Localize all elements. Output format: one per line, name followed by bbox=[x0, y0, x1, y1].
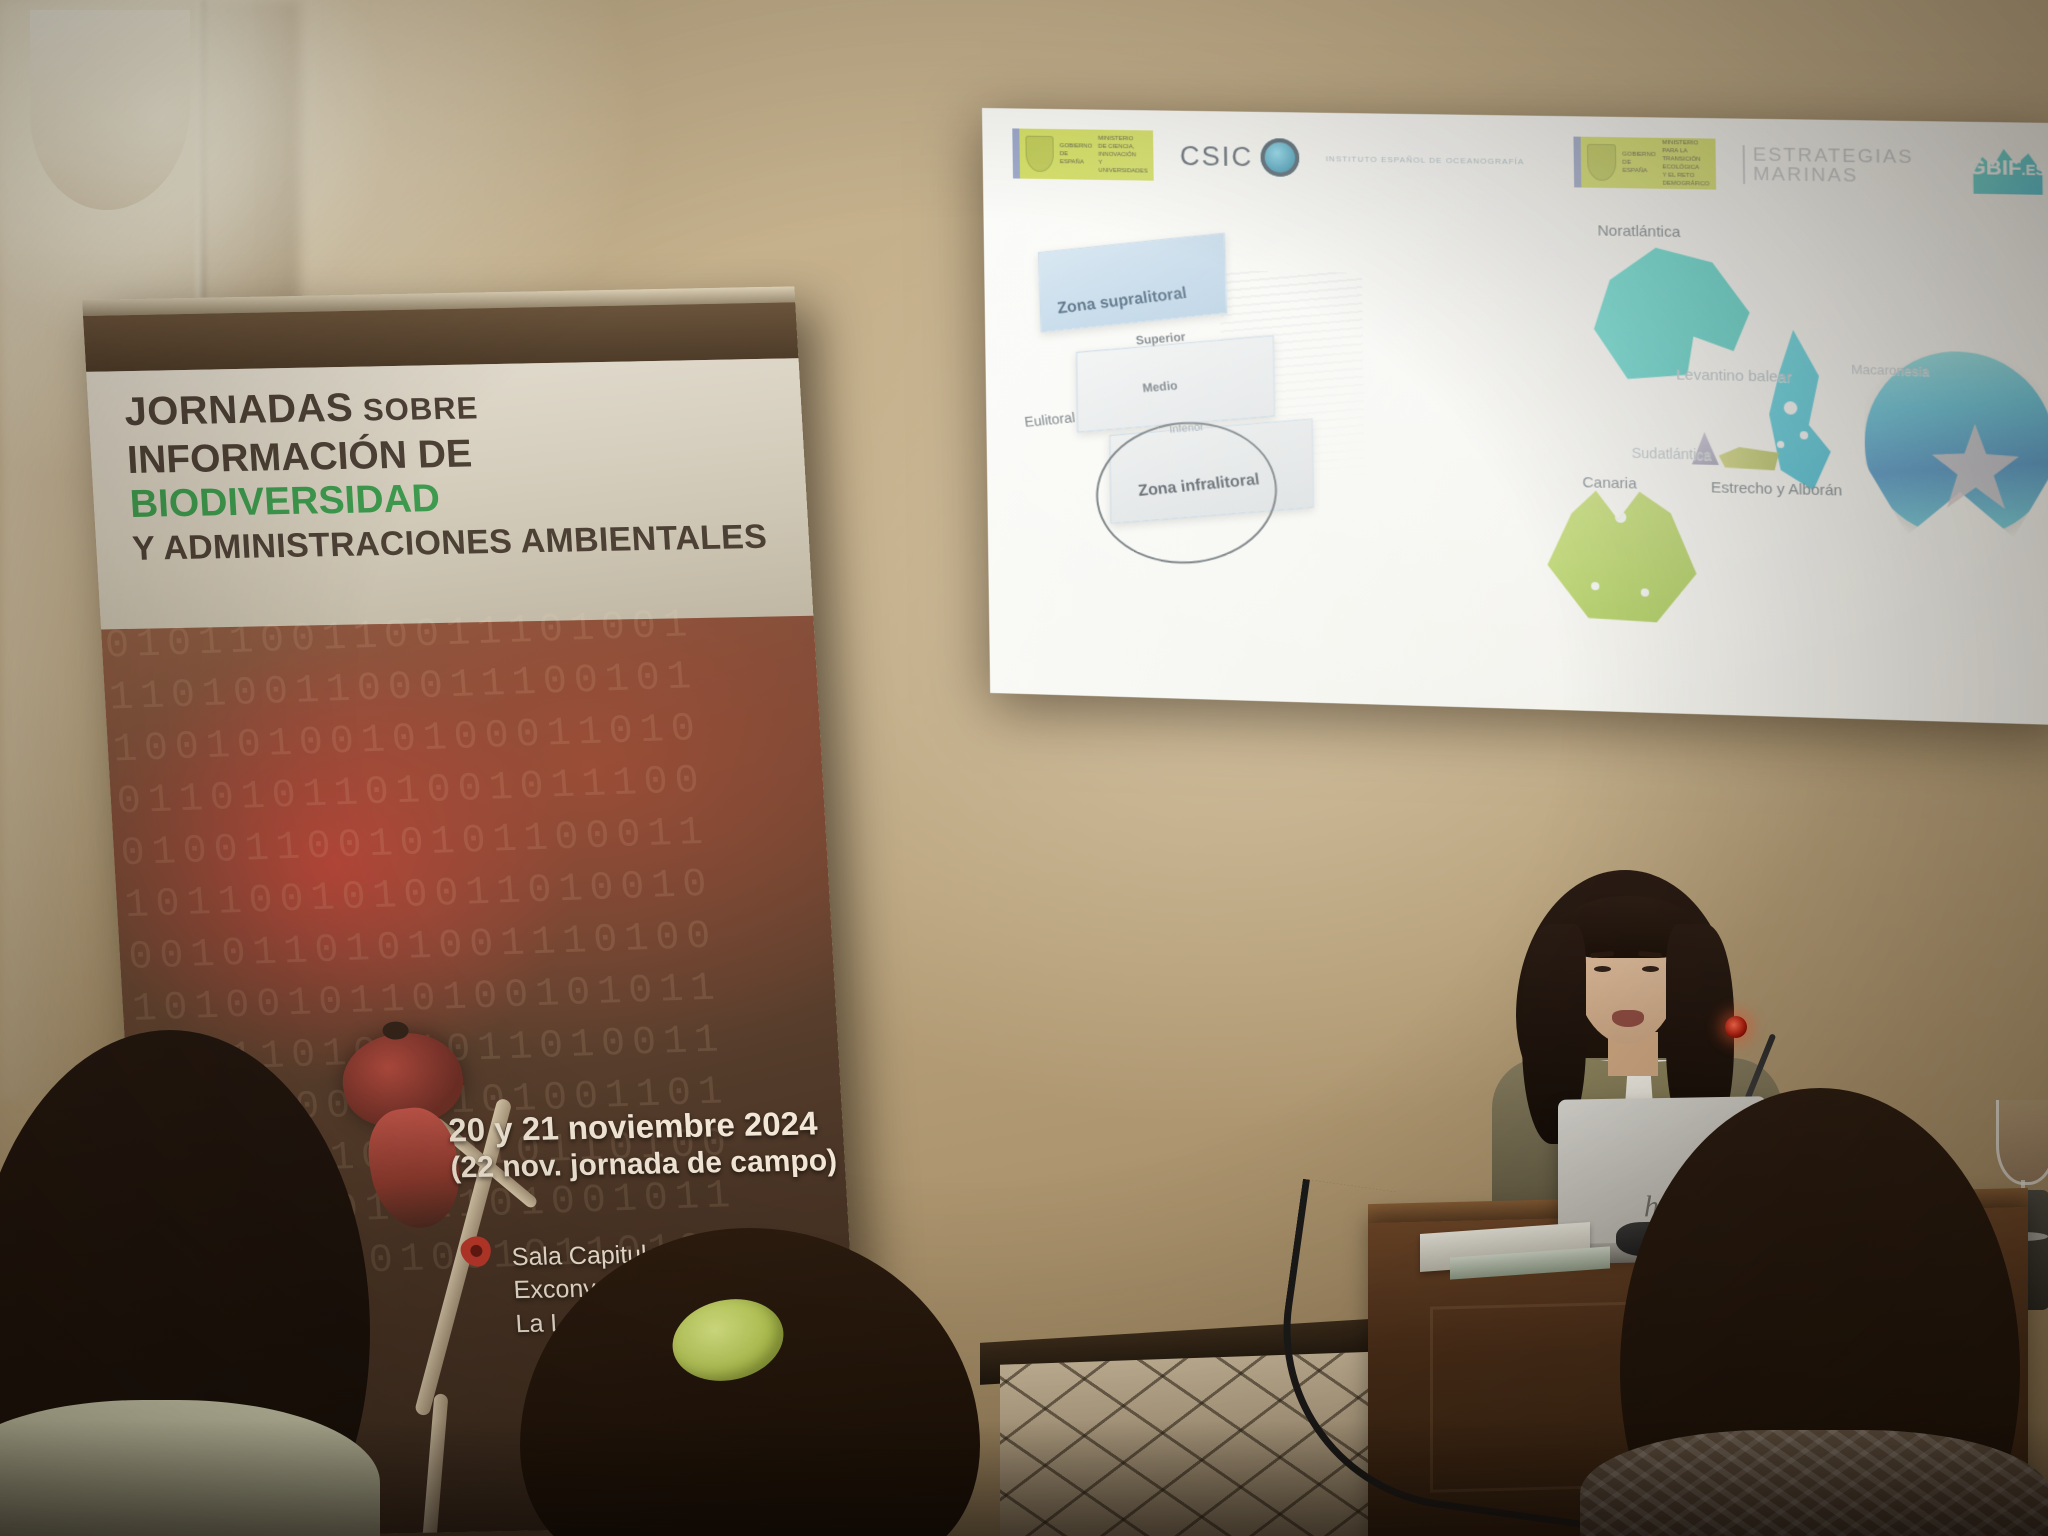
map-pin-icon bbox=[455, 1230, 497, 1272]
gobierno-logo-text: GOBIERNO DE ESPAÑA bbox=[1060, 142, 1093, 167]
ministerio2-logo-text: MINISTERIO PARA LA TRANSICIÓN ECOLÓGICA … bbox=[1662, 139, 1710, 189]
slide-logo-bar: GOBIERNO DE ESPAÑA MINISTERIO DE CIENCIA… bbox=[982, 114, 2048, 210]
region-label-levantino-balear: Levantino balear bbox=[1676, 366, 1792, 386]
headline-biodiversidad: BIODIVERSIDAD bbox=[129, 477, 442, 526]
headline-informacion-de: INFORMACIÓN DE bbox=[126, 432, 473, 482]
spain-coat-of-arms-icon-2 bbox=[1587, 144, 1616, 181]
marine-regions-map: Noratlántica Levantino balear Sudatlánti… bbox=[1408, 201, 2048, 649]
region-label-noratlantica: Noratlántica bbox=[1597, 222, 1680, 241]
supralitoral-card bbox=[1038, 233, 1227, 333]
region-label-macaronesia: Macaronesia bbox=[1851, 362, 1929, 379]
csic-globe-icon bbox=[1260, 138, 1299, 177]
region-shape-noratlantica bbox=[1589, 247, 1757, 388]
headline-jornadas: JORNADAS bbox=[123, 386, 354, 434]
spain-coat-of-arms-icon bbox=[1025, 136, 1054, 172]
microphone-on-indicator bbox=[1725, 1016, 1747, 1038]
poster-date-line2: (22 nov. jornada de campo) bbox=[450, 1142, 852, 1186]
csic-wordmark: CSIC bbox=[1180, 140, 1254, 172]
gbif-wordmark: GBIF bbox=[1968, 156, 2021, 180]
label-medio: Medio bbox=[1142, 378, 1178, 395]
ieo-logo-text: INSTITUTO ESPAÑOL DE OCEANOGRAFÍA bbox=[1325, 154, 1524, 166]
slide-content: Zona supralitoral Zona infralitoral Euli… bbox=[983, 194, 2048, 649]
label-eulitoral: Eulitoral bbox=[1023, 409, 1075, 430]
presenter-eye-left bbox=[1594, 966, 1611, 972]
banner-headline: JORNADAS SOBRE INFORMACIÓN DE BIODIVERSI… bbox=[123, 379, 774, 568]
region-label-canaria: Canaria bbox=[1582, 474, 1637, 493]
gobierno-transicion-ecologica-logo: GOBIERNO DE ESPAÑA MINISTERIO PARA LA TR… bbox=[1574, 137, 1716, 190]
presenter-eye-right bbox=[1642, 966, 1659, 972]
gobierno-espana-logo: GOBIERNO DE ESPAÑA MINISTERIO DE CIENCIA… bbox=[1012, 128, 1154, 180]
conference-room-photo: 10101100110011101001 0110100110001110010… bbox=[0, 0, 2048, 1536]
wall-sconce-lamp bbox=[30, 10, 190, 210]
region-shape-macaronesia bbox=[1863, 350, 2048, 539]
littoral-zones-diagram: Zona supralitoral Zona infralitoral Euli… bbox=[1022, 241, 1390, 551]
region-shape-estrecho-alboran bbox=[1719, 447, 1780, 471]
gbif-es-suffix: .ES bbox=[2021, 162, 2045, 179]
ministerio-logo-text: MINISTERIO DE CIENCIA, INNOVACIÓN Y UNIV… bbox=[1098, 134, 1148, 175]
star-icon bbox=[1941, 144, 1942, 191]
presenter-mouth bbox=[1612, 1010, 1644, 1027]
csic-logo: CSIC bbox=[1180, 137, 1300, 177]
gbif-es-logo: GBIF.ES bbox=[1968, 142, 2046, 195]
audience-shoulder-right bbox=[1580, 1430, 2048, 1536]
gobierno2-logo-text: GOBIERNO DE ESPAÑA bbox=[1622, 150, 1656, 175]
headline-sobre: SOBRE bbox=[362, 390, 479, 427]
region-label-estrecho-alboran: Estrecho y Alborán bbox=[1711, 479, 1843, 500]
estrategias-marinas-logo: ESTRATEGIAS MARINAS bbox=[1742, 145, 1914, 186]
projection-screen: GOBIERNO DE ESPAÑA MINISTERIO DE CIENCIA… bbox=[982, 108, 2048, 725]
region-label-sudatlantica: Sudatlántica bbox=[1632, 445, 1712, 463]
estrategias-line2: MARINAS bbox=[1753, 165, 1914, 187]
region-shape-canaria bbox=[1543, 489, 1700, 623]
